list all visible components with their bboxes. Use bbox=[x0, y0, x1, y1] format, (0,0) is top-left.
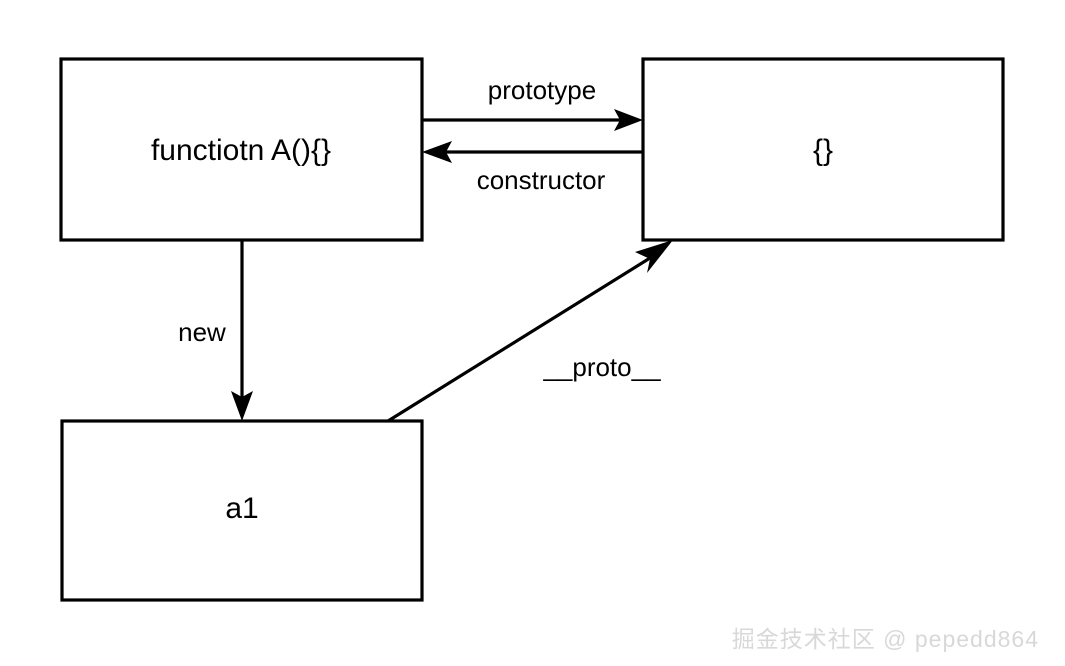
node-prototype-object[interactable]: {} bbox=[643, 59, 1003, 240]
node-instance[interactable]: a1 bbox=[62, 421, 422, 600]
edge-new-label: new bbox=[178, 317, 226, 347]
node-instance-label: a1 bbox=[225, 492, 258, 525]
diagram-canvas: functiotn A(){} {} a1 prototype construc… bbox=[0, 0, 1065, 666]
diagram-svg: functiotn A(){} {} a1 prototype construc… bbox=[0, 0, 1065, 666]
watermark: 掘金技术社区 @ pepedd864 bbox=[732, 620, 1039, 654]
edge-prototype-label: prototype bbox=[488, 75, 596, 105]
node-constructor-function[interactable]: functiotn A(){} bbox=[61, 59, 422, 240]
edge-proto-line bbox=[388, 258, 650, 421]
node-prototype-object-label: {} bbox=[813, 134, 833, 167]
edge-proto-arrowhead bbox=[635, 240, 673, 273]
node-constructor-function-label: functiotn A(){} bbox=[151, 134, 331, 167]
edge-proto[interactable]: __proto__ bbox=[388, 240, 673, 421]
edge-new[interactable]: new bbox=[178, 240, 253, 421]
edge-constructor-label: constructor bbox=[477, 165, 606, 195]
edge-prototype[interactable]: prototype bbox=[422, 75, 643, 131]
edge-constructor[interactable]: constructor bbox=[422, 141, 643, 195]
edge-proto-label: __proto__ bbox=[542, 352, 661, 382]
